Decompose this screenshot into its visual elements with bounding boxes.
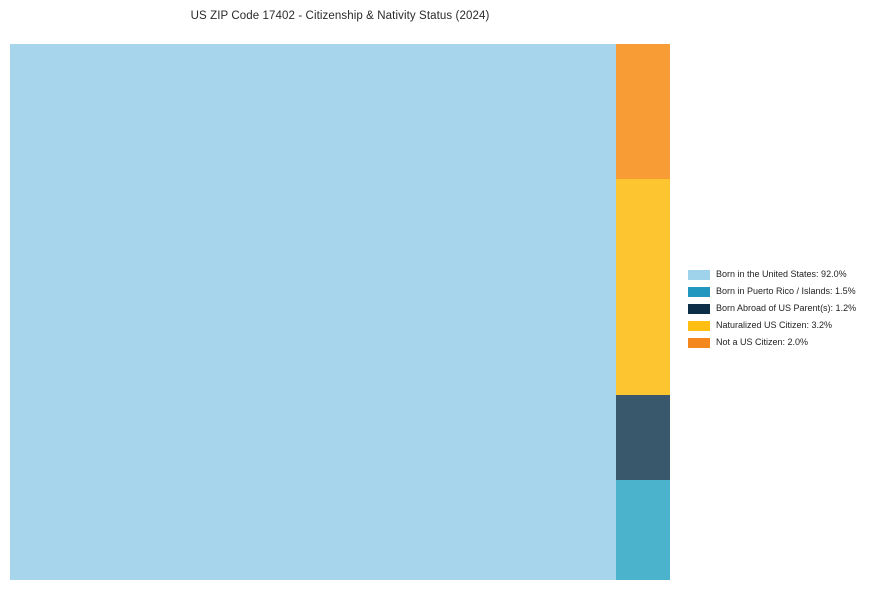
legend-swatch-icon <box>688 287 710 297</box>
legend-item[interactable]: Born Abroad of US Parent(s): 1.2% <box>688 300 884 317</box>
legend-item[interactable]: Born in the United States: 92.0% <box>688 266 884 283</box>
legend-item-label: Born Abroad of US Parent(s): 1.2% <box>716 303 856 314</box>
treemap-tile[interactable]: Born in the United States <box>10 44 616 580</box>
treemap-tile[interactable]: Born Abroad of US Parent(s) <box>616 395 670 480</box>
treemap-figure: US ZIP Code 17402 - Citizenship & Nativi… <box>0 0 889 590</box>
chart-legend: Born in the United States: 92.0%Born in … <box>688 266 884 351</box>
legend-item-label: Naturalized US Citizen: 3.2% <box>716 320 832 331</box>
legend-swatch-icon <box>688 304 710 314</box>
treemap-tile[interactable]: Not a US Citizen <box>616 44 670 179</box>
legend-item-label: Born in Puerto Rico / Islands: 1.5% <box>716 286 856 297</box>
legend-item-label: Born in the United States: 92.0% <box>716 269 847 280</box>
legend-swatch-icon <box>688 321 710 331</box>
legend-item[interactable]: Naturalized US Citizen: 3.2% <box>688 317 884 334</box>
legend-item[interactable]: Born in Puerto Rico / Islands: 1.5% <box>688 283 884 300</box>
treemap-plot-area: Born in the United StatesNot a US Citize… <box>10 44 670 580</box>
chart-title: US ZIP Code 17402 - Citizenship & Nativi… <box>0 9 680 23</box>
legend-swatch-icon <box>688 270 710 280</box>
treemap-tile[interactable]: Naturalized US Citizen <box>616 179 670 395</box>
legend-swatch-icon <box>688 338 710 348</box>
legend-item-label: Not a US Citizen: 2.0% <box>716 337 808 348</box>
legend-item[interactable]: Not a US Citizen: 2.0% <box>688 334 884 351</box>
treemap-tile[interactable]: Born in Puerto Rico / Islands <box>616 480 670 580</box>
